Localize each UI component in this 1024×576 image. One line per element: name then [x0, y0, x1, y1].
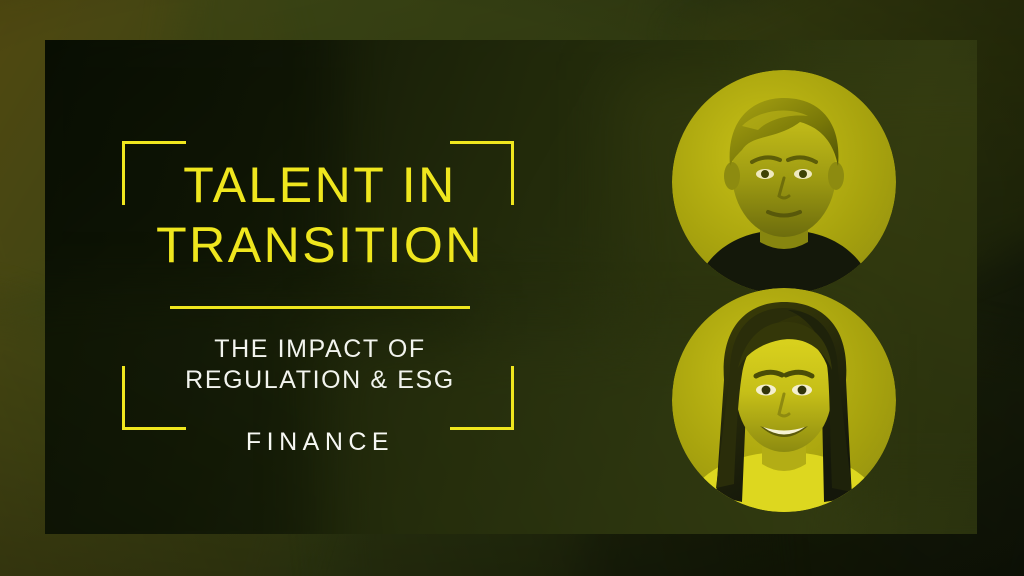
speaker-avatar-bottom	[672, 288, 896, 512]
speaker-portraits	[672, 70, 952, 534]
slide-canvas: TALENT IN TRANSITION THE IMPACT OF REGUL…	[0, 0, 1024, 576]
portrait-top-icon	[672, 70, 896, 294]
speaker-avatar-top	[672, 70, 896, 294]
sector-tag: FINANCE	[110, 428, 530, 457]
title-block: TALENT IN TRANSITION THE IMPACT OF REGUL…	[110, 145, 530, 457]
title-divider	[170, 306, 470, 309]
portrait-bottom-icon	[672, 288, 896, 512]
page-title: TALENT IN TRANSITION	[110, 145, 530, 275]
subtitle: THE IMPACT OF REGULATION & ESG	[110, 334, 530, 396]
content-panel: TALENT IN TRANSITION THE IMPACT OF REGUL…	[45, 40, 977, 534]
